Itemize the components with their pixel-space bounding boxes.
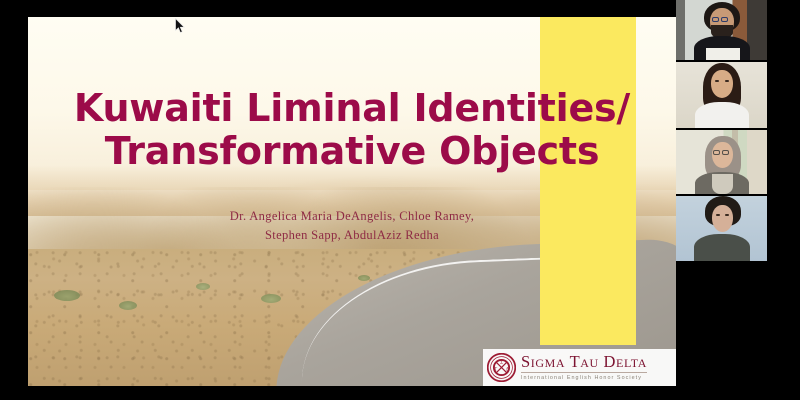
participant-tile-1[interactable] [676, 0, 767, 60]
shared-slide-stage[interactable]: Kuwaiti Liminal Identities/ Transformati… [0, 0, 676, 400]
slide-authors-line-2: Stephen Sapp, AbdulAziz Redha [28, 226, 676, 245]
presentation-slide: Kuwaiti Liminal Identities/ Transformati… [28, 17, 676, 386]
participant-3-collar [712, 174, 733, 194]
participant-tile-3[interactable] [676, 130, 767, 194]
participant-2-face [711, 70, 733, 98]
slide-title-line-2: Transformative Objects [28, 130, 676, 173]
logo-wordmark: Sigma Tau Delta International English Ho… [521, 354, 647, 382]
sigma-tau-delta-seal-icon: Σ Τ Δ [487, 353, 516, 382]
slide-title: Kuwaiti Liminal Identities/ Transformati… [28, 87, 676, 173]
logo-divider [521, 372, 647, 373]
svg-text:Σ: Σ [500, 361, 503, 366]
svg-text:Δ: Δ [506, 367, 509, 372]
participant-2-eye-right [725, 80, 729, 82]
participant-4-face [712, 205, 733, 232]
participant-1-document [706, 48, 740, 60]
participant-3-glasses [713, 150, 729, 155]
participant-3-avatar [693, 130, 751, 194]
participant-2-eye-left [715, 80, 719, 82]
photo-shrub [261, 294, 281, 303]
participant-3-face [712, 142, 733, 168]
slide-authors-line-1: Dr. Angelica Maria DeAngelis, Chloe Rame… [28, 207, 676, 226]
photo-shrub [54, 290, 80, 301]
photo-shrub [119, 301, 137, 310]
mouse-cursor-icon [175, 18, 186, 39]
participant-4-eye-left [716, 214, 720, 216]
slide-accent-band [540, 17, 636, 345]
slide-title-line-1: Kuwaiti Liminal Identities/ [74, 86, 630, 130]
participant-2-avatar [691, 62, 753, 128]
participant-1-glasses [712, 17, 728, 22]
participant-4-avatar [693, 196, 751, 261]
participant-4-eye-right [725, 214, 729, 216]
participant-tile-4[interactable] [676, 196, 767, 261]
participant-1-avatar [692, 0, 752, 60]
participant-4-torso [694, 234, 750, 261]
photo-shrub [196, 283, 210, 290]
participant-video-rail[interactable] [676, 0, 800, 400]
screen-share-view: Kuwaiti Liminal Identities/ Transformati… [0, 0, 800, 400]
logo-tagline: International English Honor Society [521, 376, 647, 381]
svg-text:Τ: Τ [494, 367, 497, 372]
slide-authors: Dr. Angelica Maria DeAngelis, Chloe Rame… [28, 207, 676, 246]
sigma-tau-delta-logo: Σ Τ Δ Sigma Tau Delta International Engl… [483, 349, 676, 386]
participant-tile-2[interactable] [676, 62, 767, 128]
participant-2-torso [695, 102, 749, 128]
logo-organization-name: Sigma Tau Delta [521, 354, 647, 371]
